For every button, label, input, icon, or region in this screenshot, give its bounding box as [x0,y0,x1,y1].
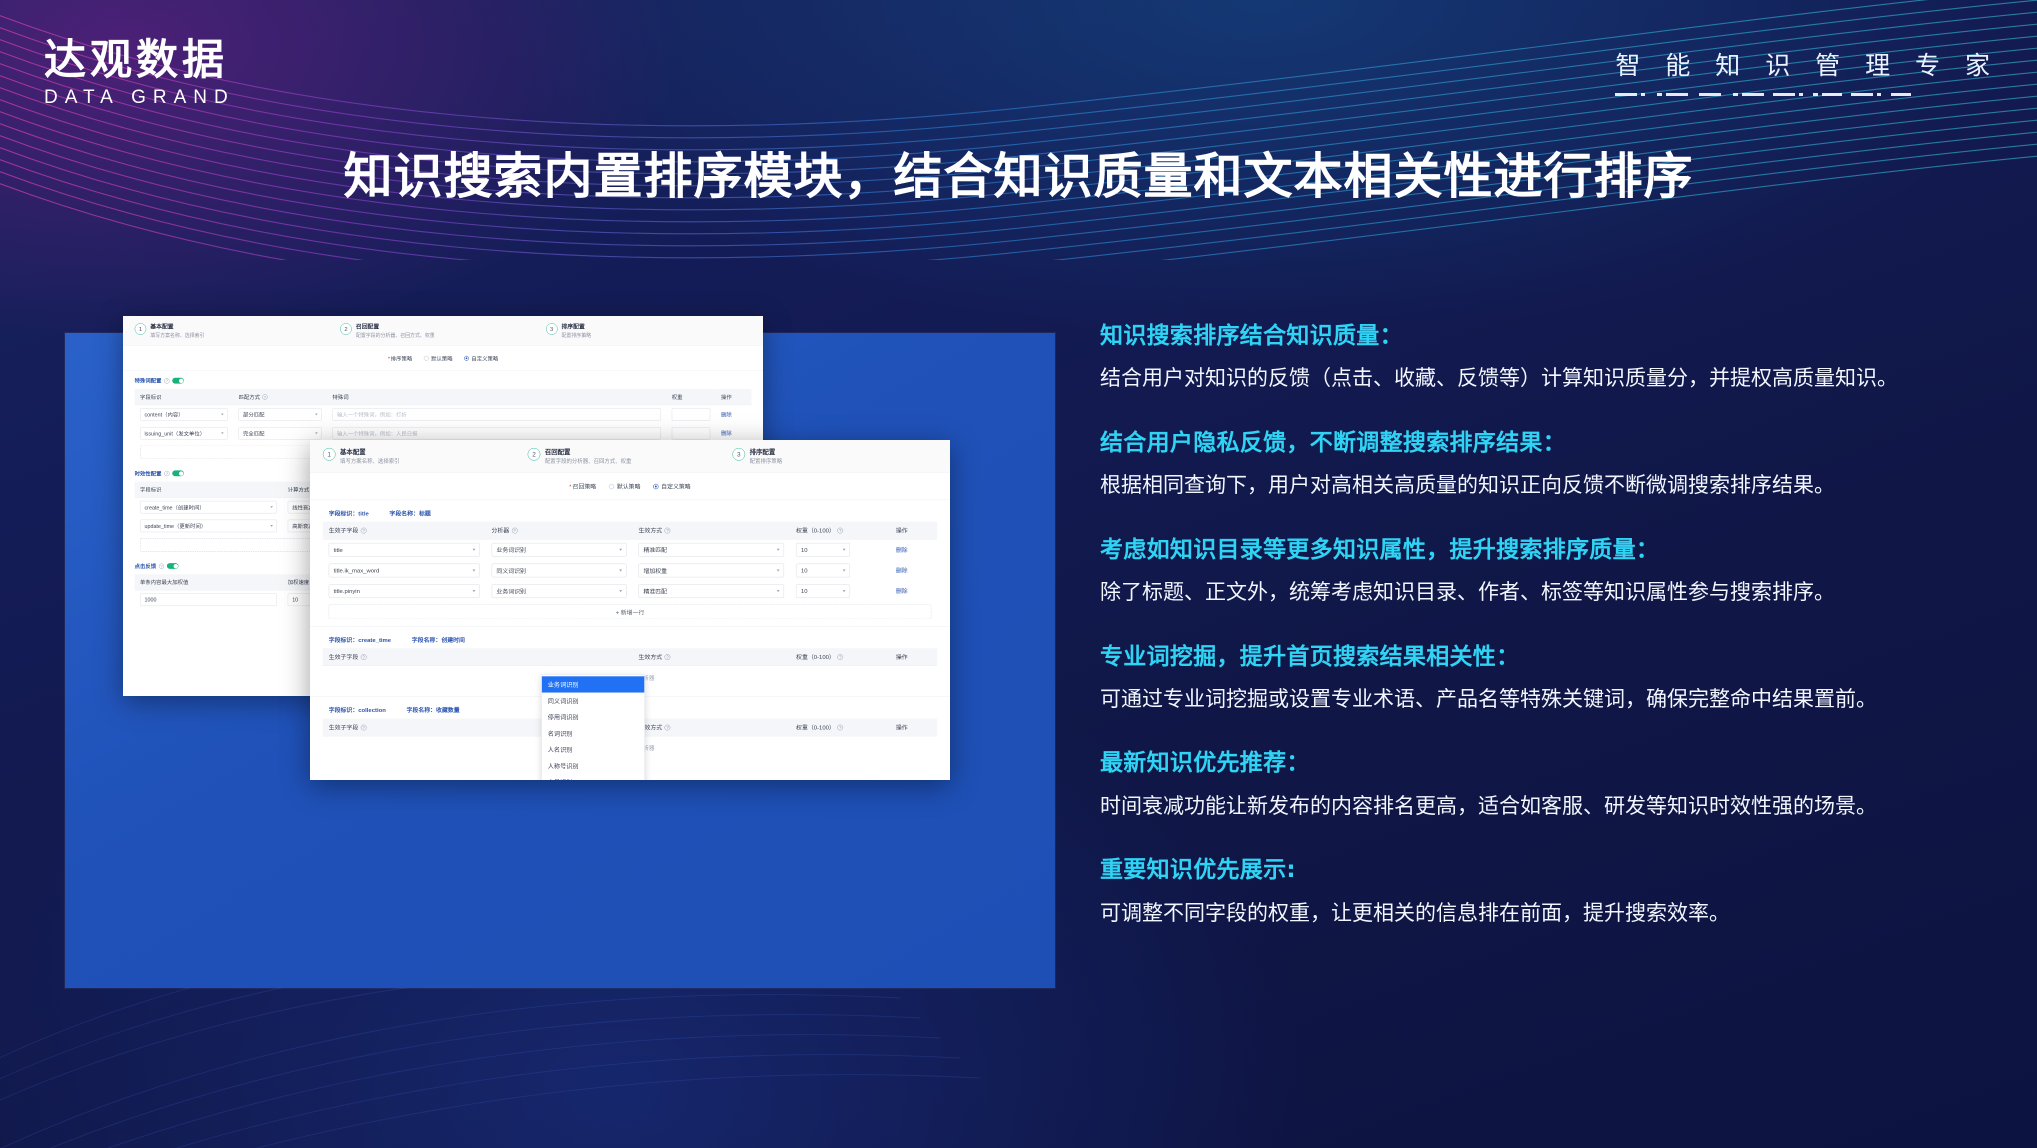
help-icon[interactable]: ? [837,724,843,730]
field-name-label: 字段名称： [389,510,419,517]
subfield-select[interactable]: title [329,543,480,557]
help-icon[interactable]: ? [361,654,367,660]
radio-label: 自定义策略 [661,482,691,490]
table-row: title.pinyin 业务词识别 精准匹配 10 删除 [323,581,937,602]
help-icon[interactable]: ? [665,528,671,534]
col-action: 操作 [890,522,937,539]
brand-logo: 达观数据 DATA GRAND [44,38,235,109]
chevron-down-icon [315,414,318,416]
bullet-body: 时间衰减功能让新发布的内容排名更高，适合如客服、研发等知识时效性强的场景。 [1100,791,1980,823]
radio-dot-icon [464,356,469,361]
radio-dot-icon [424,356,429,361]
col-field-id: 字段标识 [135,389,233,405]
step-title: 召回配置 [356,323,435,330]
bullet-heading: 最新知识优先推荐： [1100,747,1980,780]
required-asterisk: * [569,483,571,490]
radio-custom-strategy[interactable]: 自定义策略 [653,482,690,490]
logo-text-en: DATA GRAND [44,87,235,109]
help-icon[interactable]: ? [361,528,367,534]
strategy-label: *召回策略 [569,482,596,490]
chevron-down-icon [472,549,475,551]
field-name-label: 字段名称： [412,637,442,644]
table-header-row: 字段标识 匹配方式? 特殊词 权重 操作 [135,389,752,405]
chevron-down-icon [777,549,780,551]
field-group-title: 字段标识：title 字段名称：标题 生效子字段? 分析器? 生效方式? 权重（… [310,500,950,624]
step-desc: 填写方案名称、选择索引 [150,332,204,339]
recall-config-table: 生效子字段? 生效方式? 权重（0-100）? 操作 [323,648,937,666]
bullet-body: 可通过专业词挖掘或设置专业术语、产品名等特殊关键词，确保完整命中结果置前。 [1100,684,1980,716]
dropdown-option[interactable]: 同义词识别 [542,693,644,709]
dropdown-option[interactable]: 业务词识别 [542,676,644,692]
screenshot-recall-config-panel[interactable]: 1 基本配置 填写方案名称、选择索引 2 召回配置 配置字段的分析器、召回方式、… [310,440,950,780]
step-title: 基本配置 [340,448,400,456]
col-subfield: 生效子字段? [323,648,486,665]
radio-dot-icon [653,484,658,489]
chevron-down-icon [315,432,318,434]
screenshot-stage: 1 基本配置 填写方案名称、选择索引 2 召回配置 配置字段的分析器、召回方式、… [65,333,1055,988]
bullet-body: 根据相同查询下，用户对高相关高质量的知识正向反馈不断微调搜索排序结果。 [1100,470,1980,502]
step-item[interactable]: 2 召回配置 配置字段的分析器、召回方式、权重 [340,323,546,339]
section-toggle[interactable] [172,471,184,477]
col-weight: 权重（0-100）? [790,648,890,665]
help-icon[interactable]: ? [164,471,169,476]
radio-dot-icon [609,484,614,489]
field-id-value: title [358,510,369,517]
table-header-row: 生效子字段? 分析器? 生效方式? 权重（0-100）? 操作 [323,522,937,539]
col-field-id: 字段标识 [135,482,283,498]
step-desc: 填写方案名称、选择索引 [340,457,400,465]
step-title: 排序配置 [561,323,591,330]
delete-row-button[interactable]: 删除 [896,567,908,574]
step-item[interactable]: 1 基本配置 填写方案名称、选择索引 [135,323,341,339]
analyzer-select[interactable]: 业务词识别 [491,543,626,557]
dropdown-option[interactable]: 名词识别 [542,725,644,741]
chevron-down-icon [221,414,224,416]
radio-label: 自定义策略 [471,355,498,363]
step-desc: 配置排序策略 [561,332,591,339]
special-word-table: 字段标识 匹配方式? 特殊词 权重 操作 content（内容） 部分匹配 输入… [135,389,752,443]
section-title: 特殊词配置 [135,377,162,385]
col-max-weight: 单条内容最大加权值 [135,574,283,590]
chevron-down-icon [221,432,224,434]
delete-row-button[interactable]: 删除 [896,546,908,553]
bullet-block: 重要知识优先展示: 可调整不同字段的权重，让更相关的信息排在前面，提升搜索效率。 [1100,854,1980,929]
max-weight-input[interactable]: 1000 [140,594,277,607]
weight-input[interactable] [672,427,710,440]
field-id-label: 字段标识： [329,707,359,714]
section-toggle[interactable] [172,378,184,384]
field-id-value: create_time [358,637,391,644]
bullet-heading: 专业词挖掘，提升首页搜索结果相关性： [1100,641,1980,674]
feature-bullet-list: 知识搜索排序结合知识质量： 结合用户对知识的反馈（点击、收藏、反馈等）计算知识质… [1100,320,1980,961]
table-row: title.ik_max_word 同义词识别 增加权重 10 删除 [323,560,937,581]
field-name-value: 创建时间 [441,637,465,644]
col-weight: 权重（0-100）? [790,522,890,539]
step-item[interactable]: 2 召回配置 配置字段的分析器、召回方式、权重 [528,448,733,465]
analyzer-select[interactable]: 同义词识别 [491,564,626,578]
delete-row-button[interactable]: 删除 [721,430,732,436]
field-id-label: 字段标识： [329,510,359,517]
step-number: 3 [546,323,558,335]
strategy-label: *排序策略 [388,355,412,363]
chevron-down-icon [843,590,846,592]
field-name-value: 标题 [419,510,431,517]
help-icon[interactable]: ? [665,654,671,660]
chevron-down-icon [843,549,846,551]
col-action: 操作 [716,389,752,405]
chevron-down-icon [472,570,475,572]
step-number: 2 [340,323,352,335]
weight-select[interactable]: 10 [796,543,850,557]
special-word-input[interactable]: 输入一个特殊词，例如：打折 [332,408,661,421]
col-subfield: 生效子字段? [323,522,486,539]
field-id-value: collection [358,707,386,714]
chevron-down-icon [270,506,273,508]
step-item[interactable]: 1 基本配置 填写方案名称、选择索引 [323,448,528,465]
strategy-radio-group-front: *召回策略 默认策略 自定义策略 [310,473,950,501]
section-toggle[interactable] [167,563,179,569]
col-analyzer: 分析器? [486,522,633,539]
weight-select[interactable]: 10 [796,564,850,578]
radio-label: 默认策略 [431,355,452,363]
bullet-block: 专业词挖掘，提升首页搜索结果相关性： 可通过专业词挖掘或设置专业术语、产品名等特… [1100,641,1980,716]
field-name-value: 收藏数量 [436,707,460,714]
col-mode: 生效方式? [633,648,791,665]
recall-config-table: 生效子字段? 分析器? 生效方式? 权重（0-100）? 操作 title 业务… [323,522,937,602]
col-mode: 生效方式? [633,719,791,736]
radio-default-strategy[interactable]: 默认策略 [609,482,641,490]
subfield-select[interactable]: title.ik_max_word [329,564,480,578]
bullet-heading: 结合用户隐私反馈，不断调整搜索排序结果： [1100,427,1980,460]
bullet-heading: 考虑如知识目录等更多知识属性，提升搜索排序质量： [1100,534,1980,567]
field-meta: 字段标识：title 字段名称：标题 [323,509,937,522]
bullet-heading: 知识搜索排序结合知识质量： [1100,320,1980,353]
field-id-label: 字段标识： [329,637,359,644]
step-number: 1 [135,323,147,335]
field-id-select[interactable]: lssuing_unit（发文单位） [140,427,228,440]
table-row: content（内容） 部分匹配 输入一个特殊词，例如：打折 删除 [135,405,752,424]
col-mode: 生效方式? [633,522,791,539]
dropdown-option[interactable]: 停用词识别 [542,709,644,725]
required-asterisk: * [388,356,390,362]
col-weight: 权重 [666,389,715,405]
help-icon[interactable]: ? [837,528,843,534]
col-action: 操作 [890,719,937,736]
step-indicator-back: 1 基本配置 填写方案名称、选择索引 2 召回配置 配置字段的分析器、召回方式、… [123,316,763,346]
bullet-block: 考虑如知识目录等更多知识属性，提升搜索排序质量： 除了标题、正文外，统筹考虑知识… [1100,534,1980,609]
brand-tagline: 智 能 知 识 管 理 专 家 [1615,46,1999,96]
col-analyzer [486,648,633,665]
mode-select[interactable]: 增加权重 [639,564,785,578]
help-icon[interactable]: ? [512,528,518,534]
dropdown-option[interactable]: 文号识别 [542,774,644,780]
weight-select[interactable]: 10 [796,584,850,598]
chevron-down-icon [777,570,780,572]
field-name-label: 字段名称： [407,707,437,714]
col-action: 操作 [890,648,937,665]
match-mode-select[interactable]: 部分匹配 [238,408,321,421]
delete-row-button[interactable]: 删除 [721,411,732,417]
step-title: 基本配置 [150,323,204,330]
logo-text-cn: 达观数据 [44,38,235,82]
dropdown-option[interactable]: 人名识别 [542,741,644,757]
weight-input[interactable] [672,408,710,421]
field-id-select[interactable]: create_time（创建时间） [140,501,277,514]
step-number: 2 [528,448,541,461]
help-icon[interactable]: ? [837,654,843,660]
step-item[interactable]: 3 排序配置 配置排序策略 [546,323,752,339]
chevron-down-icon [777,590,780,592]
bullet-body: 可调整不同字段的权重，让更相关的信息排在前面，提升搜索效率。 [1100,898,1980,930]
chevron-down-icon [619,549,622,551]
radio-custom-strategy[interactable]: 自定义策略 [464,355,498,363]
chevron-down-icon [619,590,622,592]
section-title: 点击反馈 [135,562,156,570]
strategy-radio-group-back: *排序策略 默认策略 自定义策略 [123,346,763,371]
bullet-block: 知识搜索排序结合知识质量： 结合用户对知识的反馈（点击、收藏、反馈等）计算知识质… [1100,320,1980,395]
page-title: 知识搜索内置排序模块，结合知识质量和文本相关性进行排序 [0,137,2037,208]
mode-select[interactable]: 精准匹配 [639,543,785,557]
col-match-mode: 匹配方式? [233,389,327,405]
help-icon[interactable]: ? [164,378,169,383]
table-header-row: 生效子字段? 生效方式? 权重（0-100）? 操作 [323,648,937,665]
step-desc: 配置排序策略 [750,457,782,465]
special-word-input[interactable]: 输入一个特殊词，例如：人民日报 [332,427,661,440]
field-meta: 字段标识：create_time 字段名称：创建时间 [323,636,937,649]
radio-default-strategy[interactable]: 默认策略 [424,355,453,363]
step-title: 召回配置 [545,448,632,456]
bullet-body: 结合用户对知识的反馈（点击、收藏、反馈等）计算知识质量分，并提权高质量知识。 [1100,363,1980,395]
subfield-select[interactable]: title.pinyin [329,584,480,598]
field-id-select[interactable]: update_time（更新时间） [140,520,277,533]
bullet-block: 结合用户隐私反馈，不断调整搜索排序结果： 根据相同查询下，用户对高相关高质量的知… [1100,427,1980,502]
chevron-down-icon [270,525,273,527]
table-row: title 业务词识别 精准匹配 10 删除 [323,539,937,560]
bullet-block: 最新知识优先推荐： 时间衰减功能让新发布的内容排名更高，适合如客服、研发等知识时… [1100,747,1980,822]
step-number: 1 [323,448,336,461]
chevron-down-icon [472,590,475,592]
step-indicator-front: 1 基本配置 填写方案名称、选择索引 2 召回配置 配置字段的分析器、召回方式、… [310,440,950,473]
delete-row-button[interactable]: 删除 [896,588,908,595]
help-icon[interactable]: ? [361,724,367,730]
step-number: 3 [732,448,745,461]
match-mode-select[interactable]: 完全匹配 [238,427,321,440]
tagline-dash-decoration [1615,92,1999,96]
help-icon[interactable]: ? [665,724,671,730]
step-desc: 配置字段的分析器、召回方式、权重 [545,457,632,465]
col-weight: 权重（0-100）? [790,719,890,736]
add-row-button[interactable]: + 新增一行 [329,605,932,620]
field-id-select[interactable]: content（内容） [140,408,228,421]
mode-select[interactable]: 精准匹配 [639,584,785,598]
chevron-down-icon [843,570,846,572]
col-subfield: 生效子字段? [323,719,486,736]
help-icon[interactable]: ? [159,563,164,568]
section-header: 特殊词配置 ? [135,377,752,385]
col-special-word: 特殊词 [327,389,666,405]
analyzer-dropdown-menu[interactable]: 业务词识别 同义词识别 停用词识别 名词识别 人名识别 人称号识别 文号识别 范… [541,674,644,780]
step-item[interactable]: 3 排序配置 配置排序策略 [732,448,937,465]
bullet-heading: 重要知识优先展示: [1100,854,1980,887]
step-desc: 配置字段的分析器、召回方式、权重 [356,332,435,339]
radio-label: 默认策略 [617,482,641,490]
step-title: 排序配置 [750,448,782,456]
decorative-wave-lines [0,0,2037,260]
section-title: 时效性配置 [135,470,162,478]
dropdown-option[interactable]: 人称号识别 [542,758,644,774]
analyzer-select[interactable]: 业务词识别 [491,584,626,598]
help-icon[interactable]: ? [262,394,267,399]
bullet-body: 除了标题、正文外，统筹考虑知识目录、作者、标签等知识属性参与搜索排序。 [1100,577,1980,609]
chevron-down-icon [619,570,622,572]
tagline-text: 智 能 知 识 管 理 专 家 [1615,46,1999,82]
